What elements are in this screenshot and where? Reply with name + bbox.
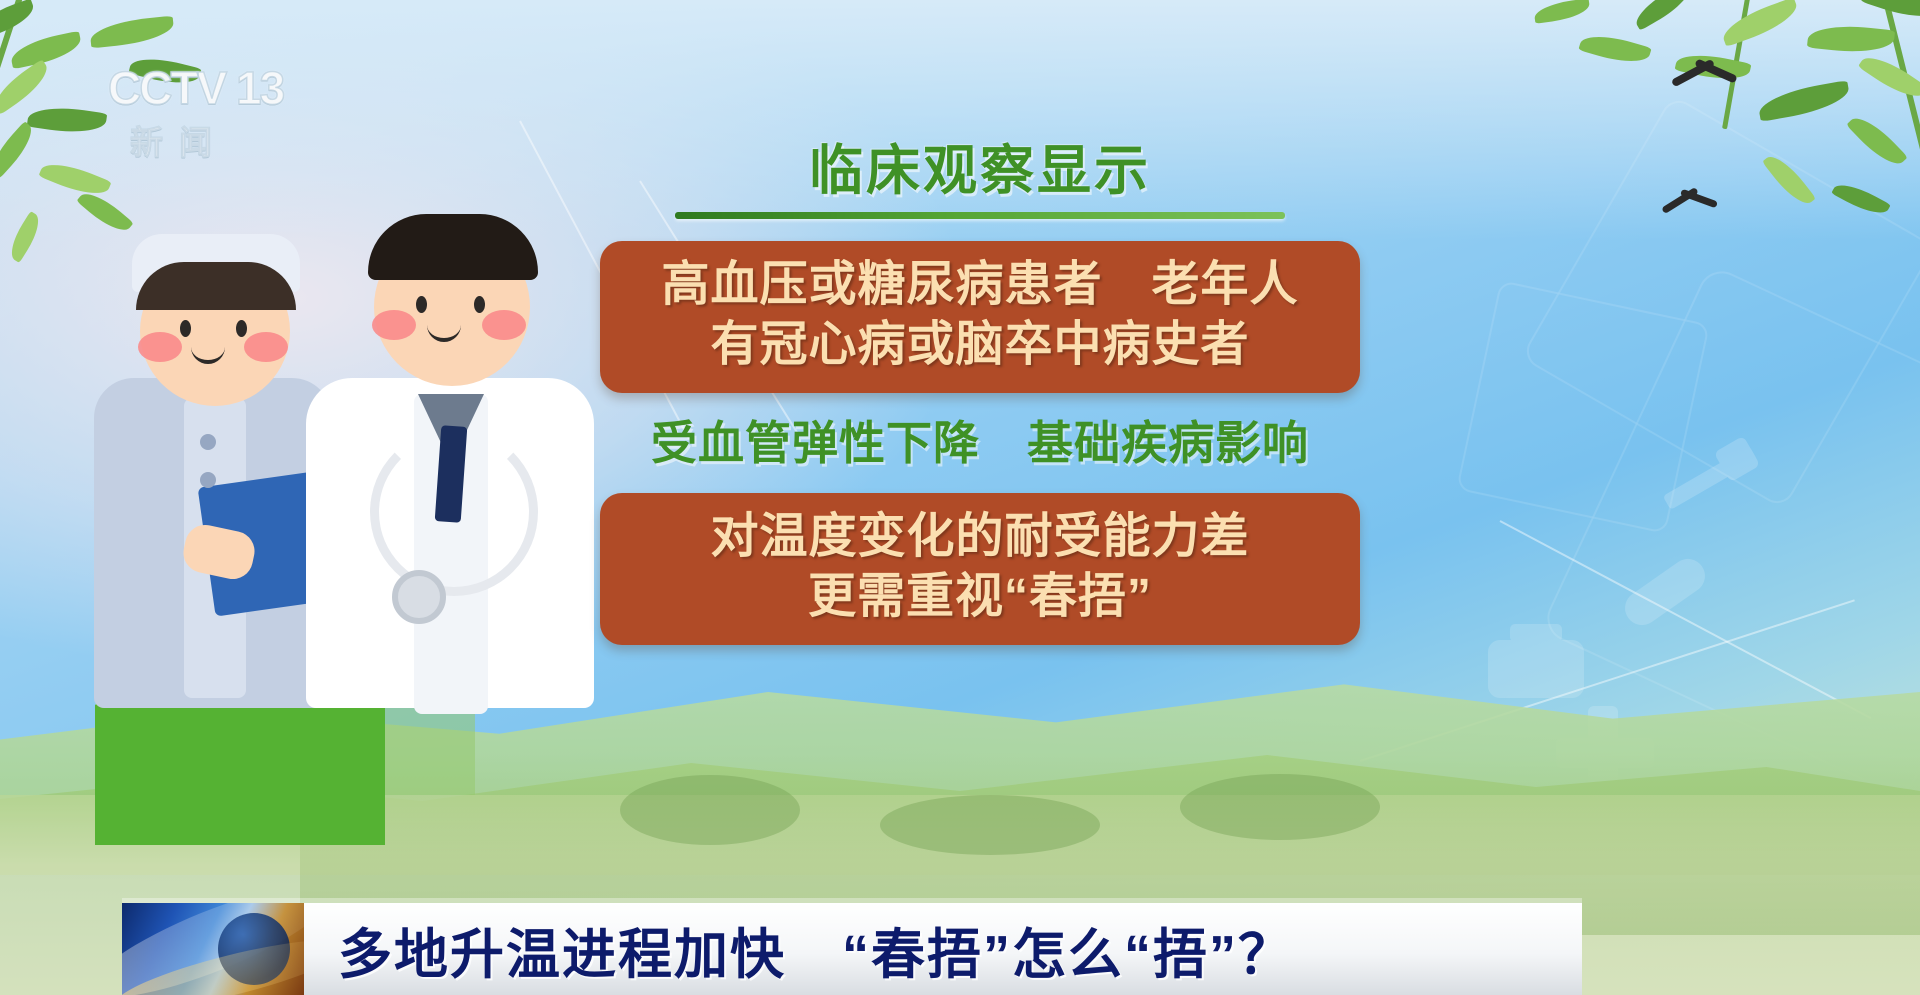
cctv-channel-logo: CCTV 13 新闻 [108,62,313,167]
cartoon-nurse [88,228,338,708]
background-bush [620,775,800,845]
house-graphic-body [95,705,385,845]
infographic-heading-underline [675,212,1285,219]
info-box-1: 高血压或糖尿病患者 老年人 有冠心病或脑卒中病史者 [600,241,1360,393]
capsule-icon [1620,545,1710,635]
ticker-headline: 多地升温进程加快 “春捂”怎么“捂”？ [338,910,1294,989]
info-box-2: 对温度变化的耐受能力差 更需重视“春捂” [600,493,1360,645]
background-bush [880,795,1100,855]
stethoscope-chestpiece [392,570,446,624]
infographic-heading: 临床观察显示 [600,140,1360,202]
swallow-bird-icon [1660,185,1720,225]
doctor-hair [368,214,538,280]
broadcast-frame: CCTV 13 新闻 临床观察显示 [0,0,1920,995]
ticker-headline-area: 多地升温进程加快 “春捂”怎么“捂”？ [304,903,1582,995]
info-box-1-line-1: 高血压或糖尿病患者 老年人 [618,255,1342,315]
syringe-icon [1650,420,1770,540]
cctv-logo-text: CCTV 13 [108,62,313,114]
swallow-bird-icon [1670,55,1740,99]
cartoon-doctor [306,198,596,708]
news-ticker: 多地升温进程加快 “春捂”怎么“捂”？ [122,903,1582,995]
pill-bottle-icon [1480,620,1590,700]
background-bush [1180,774,1380,840]
nurse-hair [136,262,296,310]
info-box-2-line-1: 对温度变化的耐受能力差 [618,507,1342,567]
info-box-1-line-2: 有冠心病或脑卒中病史者 [618,315,1342,375]
infographic-panel: 临床观察显示 高血压或糖尿病患者 老年人 有冠心病或脑卒中病史者 受血管弹性下降… [600,140,1360,645]
info-box-2-line-2: 更需重视“春捂” [618,567,1342,627]
stethoscope-tube [370,428,538,596]
cctv-logo-subtitle: 新闻 [130,116,313,164]
info-middle-line: 受血管弹性下降 基础疾病影响 [600,415,1360,471]
ticker-thumbnail [122,903,304,995]
